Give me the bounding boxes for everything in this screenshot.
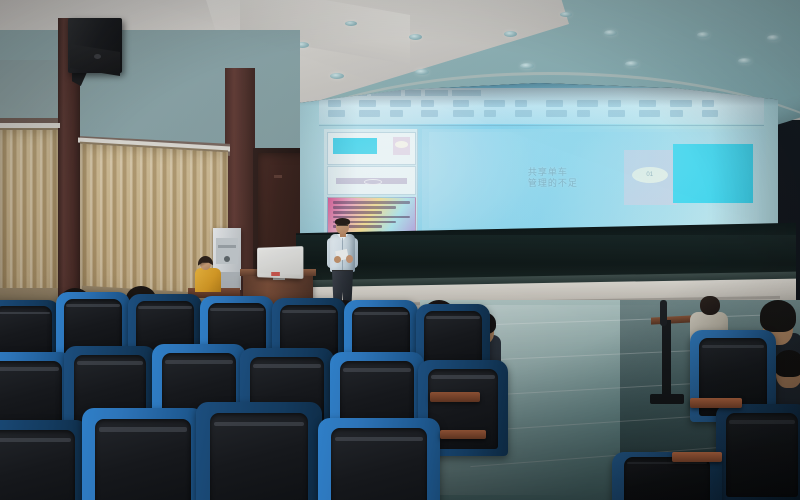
speaker-driver — [94, 54, 101, 59]
ribbon-icon-21[interactable] — [546, 110, 567, 117]
seat-stripe — [702, 345, 764, 349]
seat-stripe — [253, 364, 321, 368]
auditorium-seat[interactable] — [196, 402, 322, 500]
downlight-5 — [697, 32, 710, 38]
thumb3-text-line-3 — [333, 211, 382, 214]
ribbon-icon-24[interactable] — [639, 110, 660, 117]
downlight-4 — [604, 30, 617, 36]
seat-stripe — [354, 312, 407, 315]
thumb3-text-line-1 — [333, 201, 410, 204]
aisle-desk-base — [650, 394, 684, 404]
ribbon-icon-22[interactable] — [577, 110, 590, 117]
thumb2-pill — [364, 179, 382, 185]
presenter-hair — [335, 218, 350, 225]
monitor-logo — [271, 272, 280, 276]
door-plate — [274, 175, 282, 178]
seat-stripe — [426, 316, 479, 319]
seat-backrest — [210, 413, 308, 500]
downlight-7 — [330, 73, 344, 79]
projection-screen[interactable]: 共享单车 管理的不足 01 — [300, 83, 778, 248]
seat-stripe — [77, 361, 143, 365]
seat-stripe — [165, 360, 233, 364]
ribbon-icon-16[interactable] — [390, 110, 403, 117]
ribbon-icon-19[interactable] — [484, 110, 497, 117]
slide-thumbnail-1[interactable] — [327, 132, 417, 164]
ribbon-icon-20[interactable] — [515, 110, 532, 117]
downlight-2 — [409, 34, 422, 40]
seat-stripe — [282, 310, 335, 313]
auditorium-seat[interactable] — [0, 420, 88, 500]
thumb1-circle — [395, 141, 408, 148]
right-student-arm — [660, 300, 667, 326]
seat-writing-tray[interactable] — [690, 398, 742, 408]
student-edge-right-hair — [760, 300, 796, 332]
seat-stripe — [335, 437, 423, 442]
glasses-icon — [337, 225, 348, 229]
monitor-screen — [259, 248, 300, 274]
ribbon-icon-18[interactable] — [453, 110, 474, 117]
seat-stripe — [99, 427, 187, 432]
downlight-13 — [560, 12, 572, 17]
presenter-left-hand — [334, 256, 341, 263]
ribbon-icon-26[interactable] — [702, 110, 719, 117]
slide-badge-oval: 01 — [632, 167, 668, 183]
downlight-10 — [625, 61, 639, 67]
ribbon-icon-17[interactable] — [421, 110, 438, 117]
seat-stripe — [0, 438, 71, 442]
ribbon-icon-25[interactable] — [670, 110, 683, 117]
av-cabinet-slot — [218, 245, 236, 248]
presenter-right-hand — [346, 255, 353, 263]
ppt-slide-canvas[interactable]: 共享单车 管理的不足 01 — [429, 132, 759, 228]
ppt-slide-stage[interactable]: 共享单车 管理的不足 01 — [422, 129, 766, 238]
seat-stripe — [214, 422, 305, 427]
lecture-hall-photo: 共享单车 管理的不足 01 — [0, 0, 800, 500]
downlight-9 — [520, 63, 534, 69]
downlight-6 — [767, 35, 780, 41]
seat-stripe — [431, 375, 496, 379]
seat-writing-tray[interactable] — [440, 430, 486, 439]
thumb3-text-line-2 — [333, 206, 396, 209]
slide-cyan-rectangle — [673, 144, 752, 203]
seat-stripe — [0, 367, 59, 371]
downlight-3 — [504, 31, 517, 37]
seat-writing-tray[interactable] — [430, 392, 480, 402]
ribbon-icon-14[interactable] — [328, 110, 345, 117]
auditorium-seat[interactable] — [82, 408, 204, 500]
downlight-8 — [415, 69, 429, 75]
projected-image: 共享单车 管理的不足 01 — [300, 83, 778, 248]
right-student-head — [700, 296, 720, 315]
seat-stripe — [0, 312, 50, 315]
seat-stripe — [343, 368, 411, 372]
ribbon-icon-23[interactable] — [608, 110, 625, 117]
thumb1-cyan-block — [333, 138, 377, 154]
seat-stripe — [210, 308, 263, 311]
auditorium-seat[interactable] — [318, 418, 440, 500]
student-edge-lower-hair — [774, 350, 800, 377]
auditorium-seat[interactable] — [716, 404, 800, 500]
av-cabinet-power-button[interactable] — [224, 256, 230, 262]
downlight-11 — [738, 58, 752, 64]
ribbon-icon-15[interactable] — [359, 110, 380, 117]
slide-thumbnail-2[interactable] — [327, 166, 417, 195]
seat-stripe — [138, 306, 191, 309]
seat-backrest — [726, 413, 798, 497]
seat-stripe — [729, 420, 795, 424]
helper-torso — [195, 268, 221, 292]
curtain-left[interactable] — [0, 130, 58, 305]
seat-writing-tray[interactable] — [672, 452, 722, 462]
aisle-desk-post — [662, 320, 671, 398]
seat-stripe — [66, 304, 119, 307]
downlight-12 — [345, 21, 357, 26]
ppt-ribbon-divider — [319, 125, 764, 126]
